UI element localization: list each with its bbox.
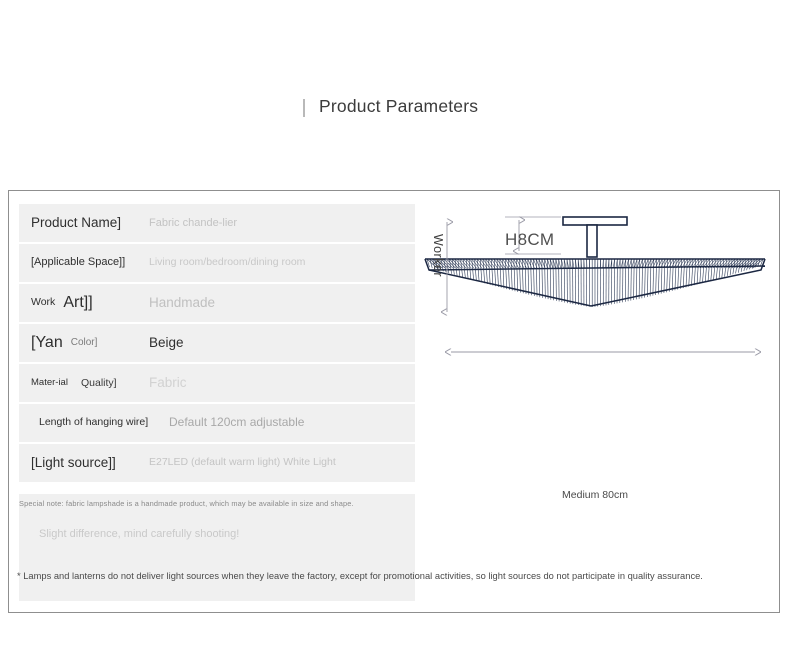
page-header-inner: Product Parameters bbox=[303, 96, 478, 117]
table-row: [Yan Color] Beige bbox=[19, 324, 415, 364]
table-row: [Applicable Space]] Living room/bedroom/… bbox=[19, 244, 415, 284]
spec-label-main: Work bbox=[31, 297, 55, 308]
spec-value-color: Beige bbox=[141, 335, 415, 350]
ceiling-plate bbox=[563, 217, 627, 225]
spec-label-main: Mater-ial bbox=[31, 378, 73, 388]
notes-block: Special note: fabric lampshade is a hand… bbox=[19, 494, 415, 601]
spec-value-product-name: Fabric chande-lier bbox=[141, 217, 291, 229]
spec-label-sub: Color] bbox=[71, 337, 98, 348]
spec-value-light-source: E27LED (default warm light) White Light bbox=[141, 457, 415, 469]
spec-label-light-source: [Light source]] bbox=[19, 456, 141, 470]
spec-label-main: Product Name] bbox=[31, 216, 121, 230]
product-parameters-panel: Product Name] Fabric chande-lier [Applic… bbox=[8, 190, 780, 613]
note-handmade: Special note: fabric lampshade is a hand… bbox=[19, 499, 419, 508]
spec-label-main: [Light source]] bbox=[31, 456, 116, 470]
spec-value-applicable-space: Living room/bedroom/dining room bbox=[141, 257, 313, 269]
table-row: Length of hanging wire] Default 120cm ad… bbox=[19, 404, 415, 444]
spec-value-material: Fabric bbox=[141, 375, 415, 390]
page-title: Product Parameters bbox=[319, 96, 478, 117]
spec-label-wire-length: Length of hanging wire] bbox=[19, 417, 169, 428]
spec-label-craft: Work Art]] bbox=[19, 294, 141, 312]
page-header: Product Parameters bbox=[0, 96, 790, 140]
product-diagram: H8CM Worker Medium 80cm bbox=[415, 204, 775, 514]
spec-label-main: Length of hanging wire] bbox=[39, 417, 148, 428]
table-row: [Light source]] E27LED (default warm lig… bbox=[19, 444, 415, 484]
width-label: Medium 80cm bbox=[415, 489, 775, 501]
height-label: H8CM bbox=[505, 230, 554, 250]
vertical-dimension-label: Worker bbox=[431, 234, 445, 277]
spec-label-sub: Quality] bbox=[81, 377, 117, 389]
spec-label-product-name: Product Name] bbox=[19, 216, 141, 230]
spec-value-craft: Handmade bbox=[141, 295, 415, 310]
spec-label-main: [Yan bbox=[31, 335, 63, 352]
footnote-quality-assurance: * Lamps and lanterns do not deliver ligh… bbox=[17, 571, 790, 581]
table-row: Work Art]] Handmade bbox=[19, 284, 415, 324]
spec-label-applicable-space: [Applicable Space]] bbox=[19, 257, 141, 269]
spec-label-material: Mater-ial Quality] bbox=[19, 377, 141, 389]
header-accent-bar bbox=[303, 99, 305, 117]
spec-label-sub: Art]] bbox=[63, 294, 92, 312]
note-shooting: Slight difference, mind carefully shooti… bbox=[39, 528, 239, 540]
spec-value-wire-length: Default 120cm adjustable bbox=[169, 416, 415, 429]
lamp-diagram-svg bbox=[415, 204, 775, 514]
ceiling-mount bbox=[563, 217, 627, 257]
spec-label-main: [Applicable Space]] bbox=[31, 257, 125, 269]
mount-stem bbox=[587, 225, 597, 257]
spec-label-color: [Yan Color] bbox=[19, 335, 141, 352]
table-row: Mater-ial Quality] Fabric bbox=[19, 364, 415, 404]
table-row: Product Name] Fabric chande-lier bbox=[19, 204, 415, 244]
spec-table: Product Name] Fabric chande-lier [Applic… bbox=[19, 204, 415, 484]
